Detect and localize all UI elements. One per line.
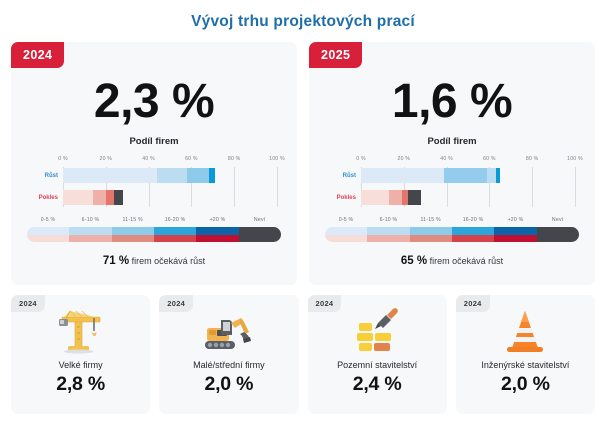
bar-segment-unknown: [408, 190, 421, 205]
scale-legend: 0-5 % 6-10 % 11-15 % 16-20 % +20 % Neví: [325, 217, 579, 242]
segment-card-male-stredni-firmy: 2024 Mal: [159, 295, 298, 414]
segment-label: Malé/střední firmy: [159, 360, 298, 370]
axis-tick: 0 %: [356, 156, 366, 162]
chart-subtitle: Podíl firem: [309, 136, 595, 147]
plot-area: Růst Pokles: [63, 167, 277, 207]
legend-cell: [494, 227, 536, 242]
legend-label: +20 %: [508, 217, 524, 223]
legend-labels: 0-5 % 6-10 % 11-15 % 16-20 % +20 % Neví: [27, 217, 281, 227]
segment-value: 2,4 %: [308, 373, 447, 396]
bar-segment: [93, 190, 106, 205]
infographic-page: Vývoj trhu projektových prací 2024 2,3 %…: [0, 0, 606, 447]
legend-label: 6-10 %: [82, 217, 100, 223]
bar-row-decline: Pokles: [361, 190, 575, 205]
bar-segment: [157, 168, 187, 183]
year-badge: 2024: [159, 295, 193, 312]
year-badge: 2024: [456, 295, 490, 312]
legend-cell: [325, 227, 367, 242]
bar-segment: [63, 190, 93, 205]
legend-label: 6-10 %: [380, 217, 398, 223]
legend-cell-unknown: [537, 227, 579, 242]
legend-cell-unknown: [239, 227, 281, 242]
legend-cell: [452, 227, 494, 242]
axis-tick: 40 %: [440, 156, 453, 162]
bar-segment: [361, 168, 444, 183]
segment-label: Velké firmy: [11, 360, 150, 370]
legend-label: 16-20 %: [165, 217, 186, 223]
segment-value: 2,8 %: [11, 373, 150, 396]
bar-row-decline: Pokles: [63, 190, 277, 205]
bar-segment-unknown: [114, 190, 123, 205]
footer-note-text: firem očekává růst: [430, 256, 504, 266]
legend-cell: [367, 227, 409, 242]
axis-tick: 20 %: [99, 156, 112, 162]
segment-value: 2,0 %: [159, 373, 298, 396]
legend-cell: [27, 227, 69, 242]
segment-label: Pozemní stavitelství: [308, 360, 447, 370]
legend-label: 16-20 %: [463, 217, 484, 223]
x-axis: 0 % 20 % 40 % 60 % 80 % 100 %: [361, 156, 575, 167]
year-card-2024: 2024 2,3 % Podíl firem 0 % 20 % 40 % 60 …: [11, 42, 297, 285]
footer-note-value: 65 %: [401, 255, 427, 267]
axis-tick: 0 %: [58, 156, 68, 162]
footer-note-text: firem očekává růst: [132, 256, 206, 266]
legend-cell: [112, 227, 154, 242]
legend-gradient-bar: [27, 227, 281, 242]
year-badge: 2024: [11, 42, 64, 68]
bar-segment: [106, 190, 115, 205]
bar-row-growth: Růst: [63, 168, 277, 183]
legend-cell: [154, 227, 196, 242]
chart-subtitle: Podíl firem: [11, 136, 297, 147]
axis-tick: 100 %: [567, 156, 583, 162]
bar-label-growth: Růst: [343, 173, 356, 179]
bar-segment: [444, 168, 487, 183]
axis-tick: 60 %: [185, 156, 198, 162]
legend-labels: 0-5 % 6-10 % 11-15 % 16-20 % +20 % Neví: [325, 217, 579, 227]
legend-label: 0-5 %: [41, 217, 56, 223]
x-axis: 0 % 20 % 40 % 60 % 80 % 100 %: [63, 156, 277, 167]
segment-label: Inženýrské stavitelství: [456, 360, 595, 370]
bar-segment: [389, 190, 402, 205]
bar-label-growth: Růst: [45, 173, 58, 179]
distribution-chart: 0 % 20 % 40 % 60 % 80 % 100 % Růst: [323, 156, 581, 207]
bar-segment: [187, 168, 208, 183]
axis-tick: 100 %: [269, 156, 285, 162]
legend-cell: [410, 227, 452, 242]
legend-label: Neví: [552, 217, 563, 223]
legend-label: +20 %: [210, 217, 226, 223]
bar-segment: [496, 168, 500, 183]
bar-segment: [63, 168, 157, 183]
axis-tick: 40 %: [142, 156, 155, 162]
year-card-2025: 2025 1,6 % Podíl firem 0 % 20 % 40 % 60 …: [309, 42, 595, 285]
year-badge: 2025: [309, 42, 362, 68]
footer-note: 71 % firem očekává růst: [11, 255, 297, 267]
legend-cell: [196, 227, 238, 242]
page-title: Vývoj trhu projektových prací: [0, 0, 606, 31]
bar-row-growth: Růst: [361, 168, 575, 183]
axis-tick: 80 %: [526, 156, 539, 162]
footer-note-value: 71 %: [103, 255, 129, 267]
year-cards-row: 2024 2,3 % Podíl firem 0 % 20 % 40 % 60 …: [0, 31, 606, 285]
legend-label: Neví: [254, 217, 265, 223]
segment-card-inzenyrske-stavitelstvi: 2024 Inženýrské stavitelství 2,0 %: [456, 295, 595, 414]
segment-cards-row: 2024: [0, 285, 606, 414]
legend-cell: [69, 227, 111, 242]
scale-legend: 0-5 % 6-10 % 11-15 % 16-20 % +20 % Neví: [27, 217, 281, 242]
axis-tick: 20 %: [397, 156, 410, 162]
bar-segment: [209, 168, 215, 183]
distribution-chart: 0 % 20 % 40 % 60 % 80 % 100 % Růst: [25, 156, 283, 207]
axis-tick: 80 %: [228, 156, 241, 162]
bar-segment: [361, 190, 389, 205]
legend-gradient-bar: [325, 227, 579, 242]
year-badge: 2024: [308, 295, 342, 312]
plot-area: Růst Pokles: [361, 167, 575, 207]
year-badge: 2024: [11, 295, 45, 312]
legend-label: 11-15 %: [122, 217, 142, 223]
bar-label-decline: Pokles: [39, 195, 58, 201]
segment-value: 2,0 %: [456, 373, 595, 396]
footer-note: 65 % firem očekává růst: [309, 255, 595, 267]
legend-label: 11-15 %: [420, 217, 440, 223]
legend-label: 0-5 %: [339, 217, 354, 223]
segment-card-velke-firmy: 2024: [11, 295, 150, 414]
bar-segment: [487, 168, 496, 183]
axis-tick: 60 %: [483, 156, 496, 162]
segment-card-pozemni-stavitelstvi: 2024 Pozemní stavitelství 2,4 %: [308, 295, 447, 414]
bar-label-decline: Pokles: [337, 195, 356, 201]
